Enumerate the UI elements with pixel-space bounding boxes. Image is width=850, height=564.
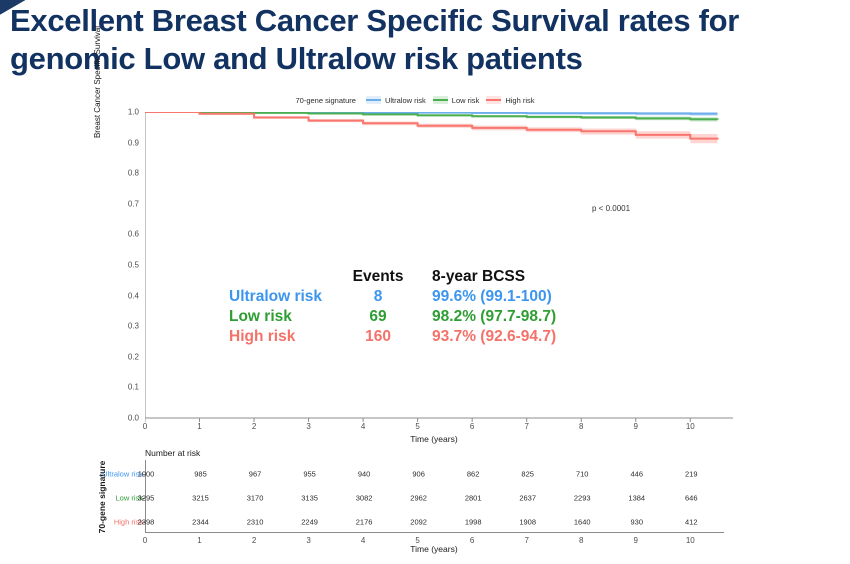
- risk-cell: 930: [617, 518, 657, 527]
- y-tick-label: 0.8: [113, 169, 139, 178]
- y-tick-label: 0.7: [113, 199, 139, 208]
- risk-cell: 646: [671, 494, 711, 503]
- risk-grid: 1000985967955940906862825710446219329532…: [145, 460, 724, 533]
- risk-cell: 2249: [290, 518, 330, 527]
- results-header-blank: [229, 267, 350, 287]
- legend-entry-label: High risk: [505, 96, 534, 105]
- x-tick-label: 5: [406, 422, 430, 431]
- risk-cell: 710: [562, 470, 602, 479]
- risk-cell: 3215: [181, 494, 221, 503]
- y-tick-label: 0.1: [113, 383, 139, 392]
- x-axis-title: Time (years): [145, 434, 723, 444]
- y-tick-label: 0.2: [113, 352, 139, 361]
- risk-x-title: Time (years): [145, 544, 723, 554]
- legend-title: 70-gene signature: [295, 96, 355, 105]
- risk-cell: 412: [671, 518, 711, 527]
- risk-cell: 3170: [235, 494, 275, 503]
- results-label: Ultralow risk: [229, 287, 350, 307]
- pvalue-annotation: p < 0.0001: [592, 204, 630, 213]
- risk-cell: 3295: [126, 494, 166, 503]
- risk-cell: 985: [181, 470, 221, 479]
- results-header-row: Events 8-year BCSS: [229, 267, 556, 287]
- risk-cell: 2092: [399, 518, 439, 527]
- risk-cell: 2398: [126, 518, 166, 527]
- risk-cell: 2344: [181, 518, 221, 527]
- plot-axes: [145, 112, 733, 418]
- risk-cell: 219: [671, 470, 711, 479]
- results-header-events: Events: [350, 267, 432, 287]
- risk-cell: 906: [399, 470, 439, 479]
- x-tick-label: 10: [678, 422, 702, 431]
- curves-canvas: [145, 112, 723, 418]
- x-tick-label: 4: [351, 422, 375, 431]
- y-tick-label: 0.9: [113, 138, 139, 147]
- results-row: Low risk6998.2% (97.7-98.7): [229, 307, 556, 327]
- km-plot: Breast Cancer Specific Survival 0.00.10.…: [95, 112, 735, 470]
- risk-cell: 2293: [562, 494, 602, 503]
- legend-swatch-icon: [486, 96, 501, 104]
- y-tick-label: 1.0: [113, 108, 139, 117]
- x-tick-label: 6: [460, 422, 484, 431]
- x-tick-label: 8: [569, 422, 593, 431]
- results-bcss: 93.7% (92.6-94.7): [432, 327, 556, 347]
- risk-cell: 446: [617, 470, 657, 479]
- risk-cell: 2962: [399, 494, 439, 503]
- risk-cell: 2310: [235, 518, 275, 527]
- results-events: 160: [350, 327, 432, 347]
- y-tick-label: 0.3: [113, 322, 139, 331]
- risk-cell: 3082: [344, 494, 384, 503]
- number-at-risk-table: Number at risk 70-gene signature Ultralo…: [95, 448, 735, 560]
- x-axis-ticks: 012345678910: [145, 418, 723, 434]
- results-bcss: 98.2% (97.7-98.7): [432, 307, 556, 327]
- results-label: Low risk: [229, 307, 350, 327]
- risk-cell: 862: [453, 470, 493, 479]
- risk-cell: 1998: [453, 518, 493, 527]
- risk-cell: 955: [290, 470, 330, 479]
- x-tick-label: 0: [133, 422, 157, 431]
- risk-cell: 825: [508, 470, 548, 479]
- risk-cell: 967: [235, 470, 275, 479]
- y-axis-title: Breast Cancer Specific Survival: [93, 0, 102, 172]
- legend-swatch-icon: [433, 96, 448, 104]
- risk-table-title: Number at risk: [145, 448, 200, 458]
- results-body: Ultralow risk899.6% (99.1-100)Low risk69…: [229, 287, 556, 347]
- risk-cell: 1640: [562, 518, 602, 527]
- risk-cell: 1908: [508, 518, 548, 527]
- risk-cell: 2637: [508, 494, 548, 503]
- x-tick-label: 3: [297, 422, 321, 431]
- legend-entry-label: Ultralow risk: [385, 96, 426, 105]
- results-row: High risk16093.7% (92.6-94.7): [229, 327, 556, 347]
- x-tick-label: 1: [188, 422, 212, 431]
- results-row: Ultralow risk899.6% (99.1-100): [229, 287, 556, 307]
- results-events: 8: [350, 287, 432, 307]
- results-table: Events 8-year BCSS Ultralow risk899.6% (…: [229, 267, 556, 347]
- legend-entry-high-risk: High risk: [486, 96, 534, 105]
- results-label: High risk: [229, 327, 350, 347]
- legend-swatch-icon: [366, 96, 381, 104]
- results-header-bcss: 8-year BCSS: [432, 267, 556, 287]
- risk-cell: 2176: [344, 518, 384, 527]
- y-axis-ticks: 0.00.10.20.30.40.50.60.70.80.91.0: [109, 112, 139, 418]
- chart-legend: 70-gene signature Ultralow riskLow riskH…: [95, 90, 735, 110]
- y-tick-label: 0.4: [113, 291, 139, 300]
- x-tick-label: 7: [515, 422, 539, 431]
- y-tick-label: 0.5: [113, 261, 139, 270]
- risk-cell: 2801: [453, 494, 493, 503]
- risk-cell: 1384: [617, 494, 657, 503]
- legend-entry-label: Low risk: [452, 96, 480, 105]
- x-tick-label: 9: [624, 422, 648, 431]
- survival-figure: 70-gene signature Ultralow riskLow riskH…: [95, 90, 735, 560]
- x-tick-label: 2: [242, 422, 266, 431]
- legend-entry-low-risk: Low risk: [433, 96, 480, 105]
- results-events: 69: [350, 307, 432, 327]
- results-bcss: 99.6% (99.1-100): [432, 287, 556, 307]
- risk-cell: 940: [344, 470, 384, 479]
- legend-entry-ultralow-risk: Ultralow risk: [366, 96, 426, 105]
- risk-cell: 3135: [290, 494, 330, 503]
- y-tick-label: 0.6: [113, 230, 139, 239]
- page-title: Excellent Breast Cancer Specific Surviva…: [10, 2, 845, 78]
- risk-cell: 1000: [126, 470, 166, 479]
